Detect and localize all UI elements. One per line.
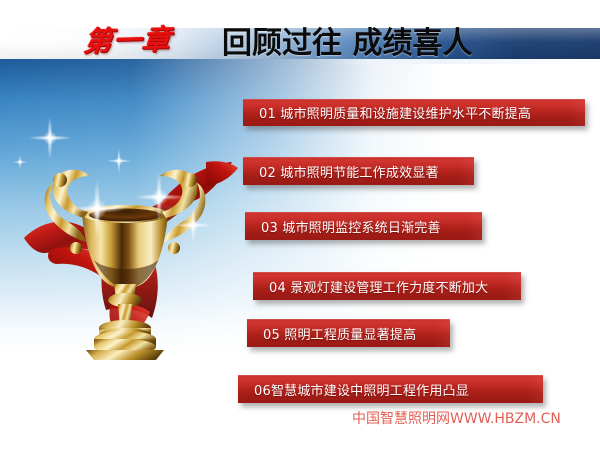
list-item-label: 06智慧城市建设中照明工程作用凸显 [254,380,469,399]
list-item[interactable]: 04 景观灯建设管理工作力度不断加大 [253,272,521,300]
list-item[interactable]: 05 照明工程质量显著提高 [247,319,450,347]
list-item-label: 04 景观灯建设管理工作力度不断加大 [269,277,488,296]
watermark-text: 中国智慧照明网WWW.HBZM.CN [352,408,561,428]
list-item-label: 01 城市照明质量和设施建设维护水平不断提高 [259,103,531,122]
list-item[interactable]: 01 城市照明质量和设施建设维护水平不断提高 [243,99,585,126]
list-item-label: 05 照明工程质量显著提高 [263,324,416,343]
bullet-bar-list: 01 城市照明质量和设施建设维护水平不断提高 02 城市照明节能工作成效显著 0… [0,0,600,450]
list-item-label: 02 城市照明节能工作成效显著 [259,162,439,181]
list-item-label: 03 城市照明监控系统日渐完善 [261,217,441,236]
list-item[interactable]: 03 城市照明监控系统日渐完善 [245,212,482,240]
list-item[interactable]: 02 城市照明节能工作成效显著 [243,157,474,185]
slide-canvas: 第一章 回顾过往 成绩喜人 01 城市照明质量和设施建设维护水平不断提高 02 … [0,0,600,450]
list-item[interactable]: 06智慧城市建设中照明工程作用凸显 [238,375,543,403]
